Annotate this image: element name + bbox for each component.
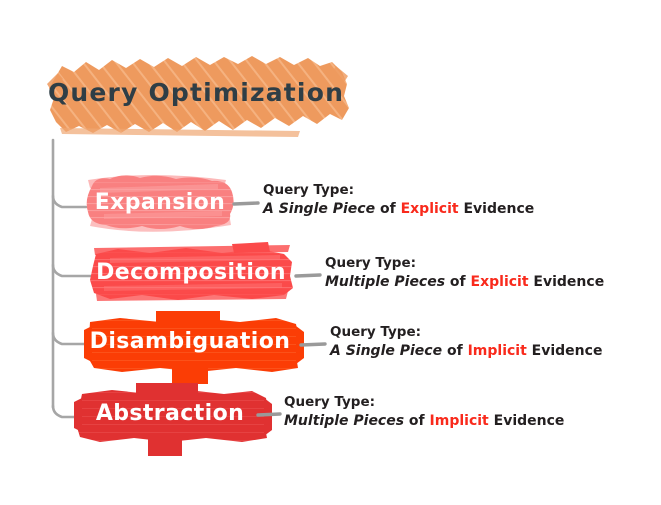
annotation-abstraction: Query Type: Multiple Pieces of Implicit … <box>284 394 564 430</box>
evidence-word-text: Evidence <box>459 201 535 217</box>
node-label: Decomposition <box>90 248 292 296</box>
node-label: Expansion <box>86 178 234 226</box>
annotation-expansion: Query Type: A Single Piece of Explicit E… <box>263 182 534 218</box>
evidence-type-text: Explicit <box>401 201 459 217</box>
elbow-1 <box>53 265 92 276</box>
annotation-description: Multiple Pieces of Explicit Evidence <box>325 273 604 291</box>
annotation-description: A Single Piece of Explicit Evidence <box>263 200 534 218</box>
title-node[interactable]: Query Optimization <box>48 56 344 128</box>
joiner-text: of <box>404 413 429 429</box>
elbow-2 <box>53 333 90 344</box>
node-expansion[interactable]: Expansion <box>86 178 234 226</box>
node-label: Disambiguation <box>86 316 294 366</box>
page-title: Query Optimization <box>48 56 344 128</box>
joiner-text: of <box>375 201 400 217</box>
annotation-label: Query Type: <box>330 324 602 342</box>
quantity-text: A Single Piece <box>263 201 375 217</box>
node-disambiguation[interactable]: Disambiguation <box>86 316 294 366</box>
annotation-label: Query Type: <box>325 255 604 273</box>
annotation-label: Query Type: <box>263 182 534 200</box>
evidence-word-text: Evidence <box>527 343 603 359</box>
node-abstraction[interactable]: Abstraction <box>78 388 262 438</box>
annotation-description: Multiple Pieces of Implicit Evidence <box>284 412 564 430</box>
stub-2 <box>301 344 325 345</box>
evidence-type-text: Implicit <box>430 413 489 429</box>
joiner-text: of <box>445 274 470 290</box>
joiner-text: of <box>442 343 467 359</box>
quantity-text: A Single Piece <box>330 343 442 359</box>
evidence-word-text: Evidence <box>529 274 605 290</box>
annotation-label: Query Type: <box>284 394 564 412</box>
diagram-canvas: Query Optimization Expansion Decompositi… <box>0 0 661 505</box>
annotation-description: A Single Piece of Implicit Evidence <box>330 342 602 360</box>
tab-bottom <box>172 368 208 384</box>
evidence-type-text: Implicit <box>468 343 527 359</box>
node-decomposition[interactable]: Decomposition <box>90 248 292 296</box>
stub-0 <box>234 203 258 204</box>
node-label: Abstraction <box>78 388 262 438</box>
evidence-word-text: Evidence <box>489 413 565 429</box>
tab-bottom <box>148 438 182 456</box>
annotation-decomposition: Query Type: Multiple Pieces of Explicit … <box>325 255 604 291</box>
annotation-stubs <box>234 203 325 415</box>
annotation-disambiguation: Query Type: A Single Piece of Implicit E… <box>330 324 602 360</box>
evidence-type-text: Explicit <box>471 274 529 290</box>
stub-1 <box>296 275 320 276</box>
quantity-text: Multiple Pieces <box>284 413 404 429</box>
elbow-0 <box>53 196 86 207</box>
quantity-text: Multiple Pieces <box>325 274 445 290</box>
